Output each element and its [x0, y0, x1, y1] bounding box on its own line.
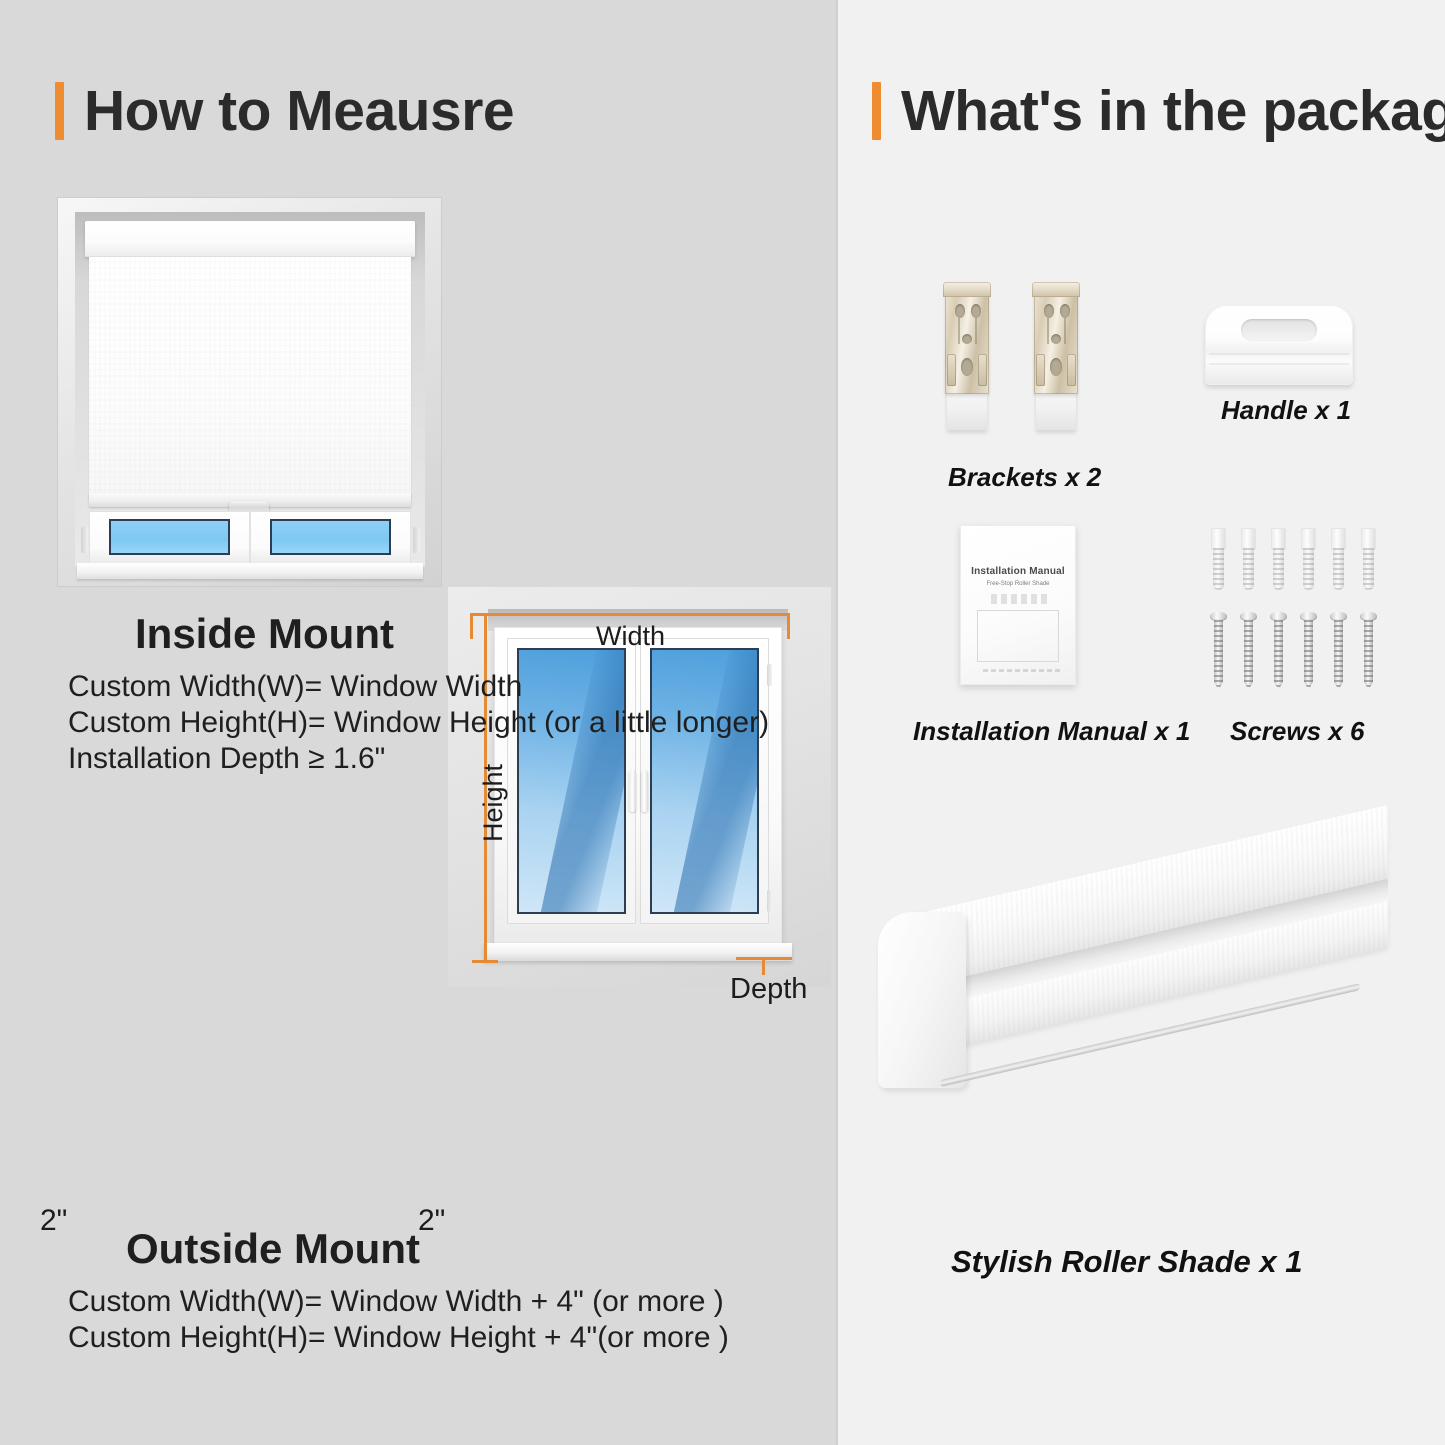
screw-shaft	[1244, 620, 1253, 690]
anchor-body	[1243, 548, 1254, 590]
package-contents-panel: What's in the package	[836, 0, 1445, 1445]
screw-shaft	[1274, 620, 1283, 690]
roller-shade-end-cap	[878, 912, 966, 1088]
bracket-hole-2	[971, 304, 981, 318]
wall-anchor-icon	[1210, 528, 1227, 590]
manual-cover-footer	[983, 669, 1061, 672]
bracket-top-flange	[943, 282, 991, 297]
bracket-slot-left	[947, 354, 956, 386]
bracket-hole-1	[1044, 304, 1054, 318]
roller-shade-icon	[880, 910, 1380, 1210]
screw-head	[1240, 612, 1257, 621]
bracket-hole-2	[1060, 304, 1070, 318]
how-to-measure-panel: How to Meausre	[0, 0, 836, 1445]
roller-shade-label: Stylish Roller Shade x 1	[951, 1244, 1302, 1280]
brackets-label: Brackets x 2	[948, 462, 1101, 493]
screw-shaft	[1334, 620, 1343, 690]
window-sashes	[505, 638, 771, 924]
anchor-head	[1361, 528, 1376, 550]
bracket-icon	[941, 280, 993, 430]
screw-icon	[1300, 612, 1317, 690]
screw-head	[1300, 612, 1317, 621]
screw-shaft	[1364, 620, 1373, 690]
window-glass-left	[109, 519, 230, 554]
width-label: Width	[596, 621, 665, 652]
heading-accent-bar	[872, 82, 881, 140]
screw-head	[1330, 612, 1347, 621]
bracket-icon	[1030, 280, 1082, 430]
width-measure-cap-left	[470, 613, 473, 639]
inside-mount-shade-illustration	[57, 197, 442, 587]
roller-shade-tube	[898, 803, 1398, 1168]
manual-icon: Installation Manual Free-Stop Roller Sha…	[960, 525, 1076, 685]
bracket-center-hole	[1050, 358, 1062, 376]
window-sash-left	[507, 638, 636, 924]
package-title: What's in the package	[901, 78, 1445, 144]
screw-icon	[1270, 612, 1287, 690]
anchor-body	[1273, 548, 1284, 590]
screw-icon	[1240, 612, 1257, 690]
handle-icon	[1205, 305, 1353, 385]
window-handle-right	[641, 770, 648, 812]
screw-head	[1360, 612, 1377, 621]
window-hinge-right	[413, 527, 420, 553]
window-sill	[77, 563, 423, 579]
bracket-slot-left	[1036, 354, 1045, 386]
window-hinge-bottom	[767, 890, 772, 912]
wall-anchor-icon	[1240, 528, 1257, 590]
shade-headrail	[85, 221, 415, 257]
inside-mount-measure-diagram: Width Height Depth	[448, 587, 831, 987]
width-measure-line	[470, 613, 790, 616]
window-glass-right	[270, 519, 391, 554]
anchor-head	[1211, 528, 1226, 550]
screw-icon	[1360, 612, 1377, 690]
manual-cover-scribble	[991, 594, 1047, 604]
window-sash-row	[89, 511, 411, 565]
anchor-body	[1363, 548, 1374, 590]
window-frame	[494, 627, 782, 947]
bracket-slot-right	[978, 354, 987, 386]
anchor-head	[1241, 528, 1256, 550]
bracket-rib-right	[975, 318, 977, 344]
screw-icon	[1330, 612, 1347, 690]
bracket-rib-left	[1047, 318, 1049, 344]
anchor-head	[1301, 528, 1316, 550]
wall-anchor-icon	[1270, 528, 1287, 590]
height-measure-cap-bottom	[472, 960, 498, 963]
window-glass-right	[650, 648, 759, 914]
wall-anchor-icon	[1330, 528, 1347, 590]
anchor-body	[1303, 548, 1314, 590]
handle-label: Handle x 1	[1221, 395, 1351, 426]
window-hinge-left	[81, 527, 88, 553]
manual-cover-figure	[977, 610, 1059, 662]
bracket-hole-3	[1051, 334, 1061, 344]
window-sash-right	[640, 638, 769, 924]
height-measure-cap-top	[472, 613, 498, 616]
depth-label: Depth	[730, 973, 807, 1006]
outside-mount-line-2: Custom Height(H)= Window Height + 4"(or …	[68, 1321, 729, 1355]
bracket-hole-3	[962, 334, 972, 344]
handle-grip-slot	[1241, 319, 1317, 341]
window-glass-left	[517, 648, 626, 914]
bracket-metal-plate	[945, 286, 989, 394]
window-handle-left	[629, 770, 636, 812]
screw-head	[1270, 612, 1287, 621]
screw-head	[1210, 612, 1227, 621]
inside-mount-line-2: Custom Height(H)= Window Height (or a li…	[68, 706, 769, 740]
overhang-label-left: 2"	[40, 1204, 67, 1238]
heading-accent-bar	[55, 82, 64, 140]
how-to-measure-heading: How to Meausre	[55, 78, 514, 144]
bracket-rib-right	[1064, 318, 1066, 344]
overhang-label-right: 2"	[418, 1204, 445, 1238]
screw-shaft	[1304, 620, 1313, 690]
handle-seam-1	[1209, 353, 1349, 355]
wall-anchor-icon	[1360, 528, 1377, 590]
bracket-metal-plate	[1034, 286, 1078, 394]
anchor-body	[1333, 548, 1344, 590]
anchor-body	[1213, 548, 1224, 590]
inside-mount-title: Inside Mount	[135, 610, 394, 658]
window-hinge-top	[767, 664, 772, 686]
window-sash-left	[89, 511, 250, 565]
wall-anchor-icon	[1300, 528, 1317, 590]
inside-mount-line-1: Custom Width(W)= Window Width	[68, 670, 522, 704]
handle-seam-2	[1209, 363, 1349, 365]
screws-label: Screws x 6	[1230, 716, 1364, 747]
how-to-measure-title: How to Meausre	[84, 78, 514, 144]
handle-body	[1205, 305, 1353, 385]
anchor-head	[1331, 528, 1346, 550]
bracket-top-flange	[1032, 282, 1080, 297]
infographic-page: How to Meausre	[0, 0, 1445, 1445]
inside-mount-line-3: Installation Depth ≥ 1.6"	[68, 742, 385, 776]
screw-icon	[1210, 612, 1227, 690]
manual-label: Installation Manual x 1	[913, 716, 1190, 747]
bracket-rib-left	[958, 318, 960, 344]
window-sash-right	[250, 511, 411, 565]
manual-cover-subtitle: Free-Stop Roller Shade	[961, 581, 1075, 587]
bracket-hole-1	[955, 304, 965, 318]
outside-mount-title: Outside Mount	[126, 1225, 420, 1273]
outside-mount-line-1: Custom Width(W)= Window Width + 4" (or m…	[68, 1285, 724, 1319]
width-measure-cap-right	[787, 613, 790, 639]
manual-cover-title: Installation Manual	[961, 566, 1075, 577]
anchor-head	[1271, 528, 1286, 550]
bracket-center-hole	[961, 358, 973, 376]
shade-fabric	[89, 257, 411, 497]
screw-shaft	[1214, 620, 1223, 690]
bracket-slot-right	[1067, 354, 1076, 386]
package-heading: What's in the package	[872, 78, 1445, 144]
height-label: Height	[478, 764, 509, 842]
